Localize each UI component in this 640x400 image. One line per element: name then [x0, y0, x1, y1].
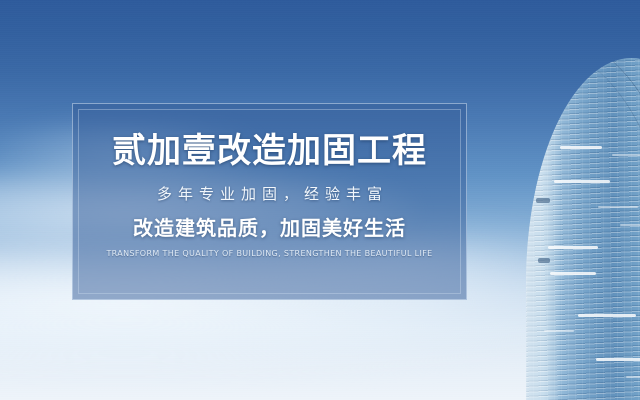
panel-content: 贰加壹改造加固工程 多年专业加固，经验丰富 改造建筑品质，加固美好生活 TRAN… [73, 104, 466, 299]
tower-window-glint [612, 154, 640, 156]
tower-window-glint [554, 180, 610, 183]
promo-banner: 贰加壹改造加固工程 多年专业加固，经验丰富 改造建筑品质，加固美好生活 TRAN… [0, 0, 640, 400]
text-panel: 贰加壹改造加固工程 多年专业加固，经验丰富 改造建筑品质，加固美好生活 TRAN… [72, 103, 467, 300]
tower-window-glint [550, 272, 596, 275]
tower-window-dark [538, 258, 550, 263]
tower-window-glint [596, 358, 640, 361]
tower-window-glint [598, 206, 638, 208]
tower-window-glint [620, 224, 640, 226]
tower-window-dark [536, 198, 550, 203]
skyscraper-photo [480, 0, 640, 400]
tower-curved-seam-secondary [526, 58, 640, 400]
banner-subline: 多年专业加固，经验丰富 [151, 187, 388, 202]
tower-window-glint [560, 146, 602, 149]
tower-window-glint [544, 330, 574, 332]
tower-window-glint [548, 246, 598, 249]
tower-window-glint [578, 314, 636, 317]
tower-body [526, 58, 640, 400]
tower-window-glint [626, 376, 640, 378]
banner-headline: 贰加壹改造加固工程 [112, 134, 427, 168]
banner-slogan: 改造建筑品质，加固美好生活 [133, 218, 406, 238]
banner-english-tagline: TRANSFORM THE QUALITY OF BUILDING, STREN… [106, 250, 432, 258]
